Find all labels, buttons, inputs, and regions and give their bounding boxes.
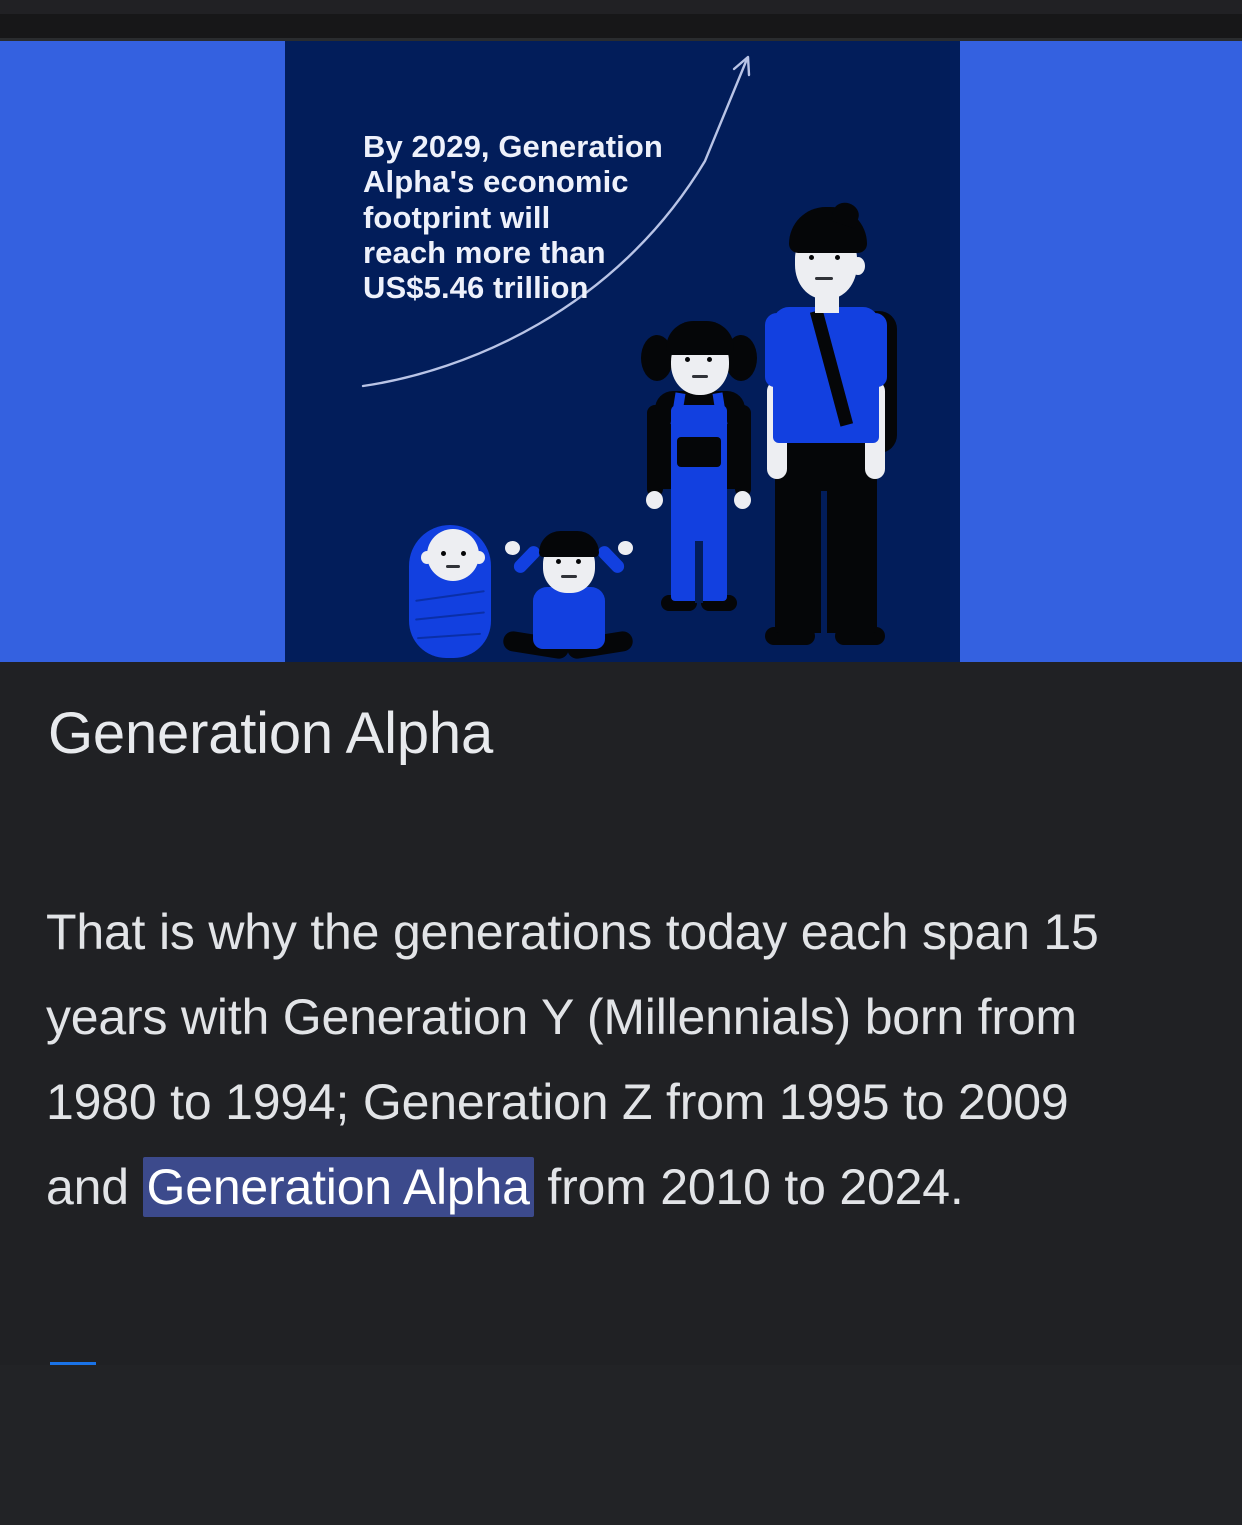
- figure-girl: [633, 309, 763, 662]
- figure-teen: [747, 203, 912, 662]
- figure-toddler: [503, 515, 633, 660]
- article-content: Generation Alpha That is why the generat…: [0, 662, 1242, 1365]
- figure-swaddled-baby: [405, 503, 495, 658]
- paragraph-text-after: from 2010 to 2024.: [534, 1159, 964, 1215]
- infographic: By 2029, Generation Alpha's economic foo…: [285, 41, 960, 662]
- page-title: Generation Alpha: [48, 700, 493, 767]
- bottom-bar: A A what generation is 2012: [0, 1365, 1242, 1525]
- highlighted-term[interactable]: Generation Alpha: [143, 1157, 534, 1217]
- browser-chrome-strip: [0, 14, 1242, 38]
- hero-image[interactable]: By 2029, Generation Alpha's economic foo…: [0, 41, 1242, 662]
- screen: By 2029, Generation Alpha's economic foo…: [0, 0, 1242, 1525]
- infographic-caption: By 2029, Generation Alpha's economic foo…: [363, 129, 703, 306]
- article-paragraph: That is why the generations today each s…: [46, 890, 1126, 1230]
- status-bar: [0, 0, 1242, 14]
